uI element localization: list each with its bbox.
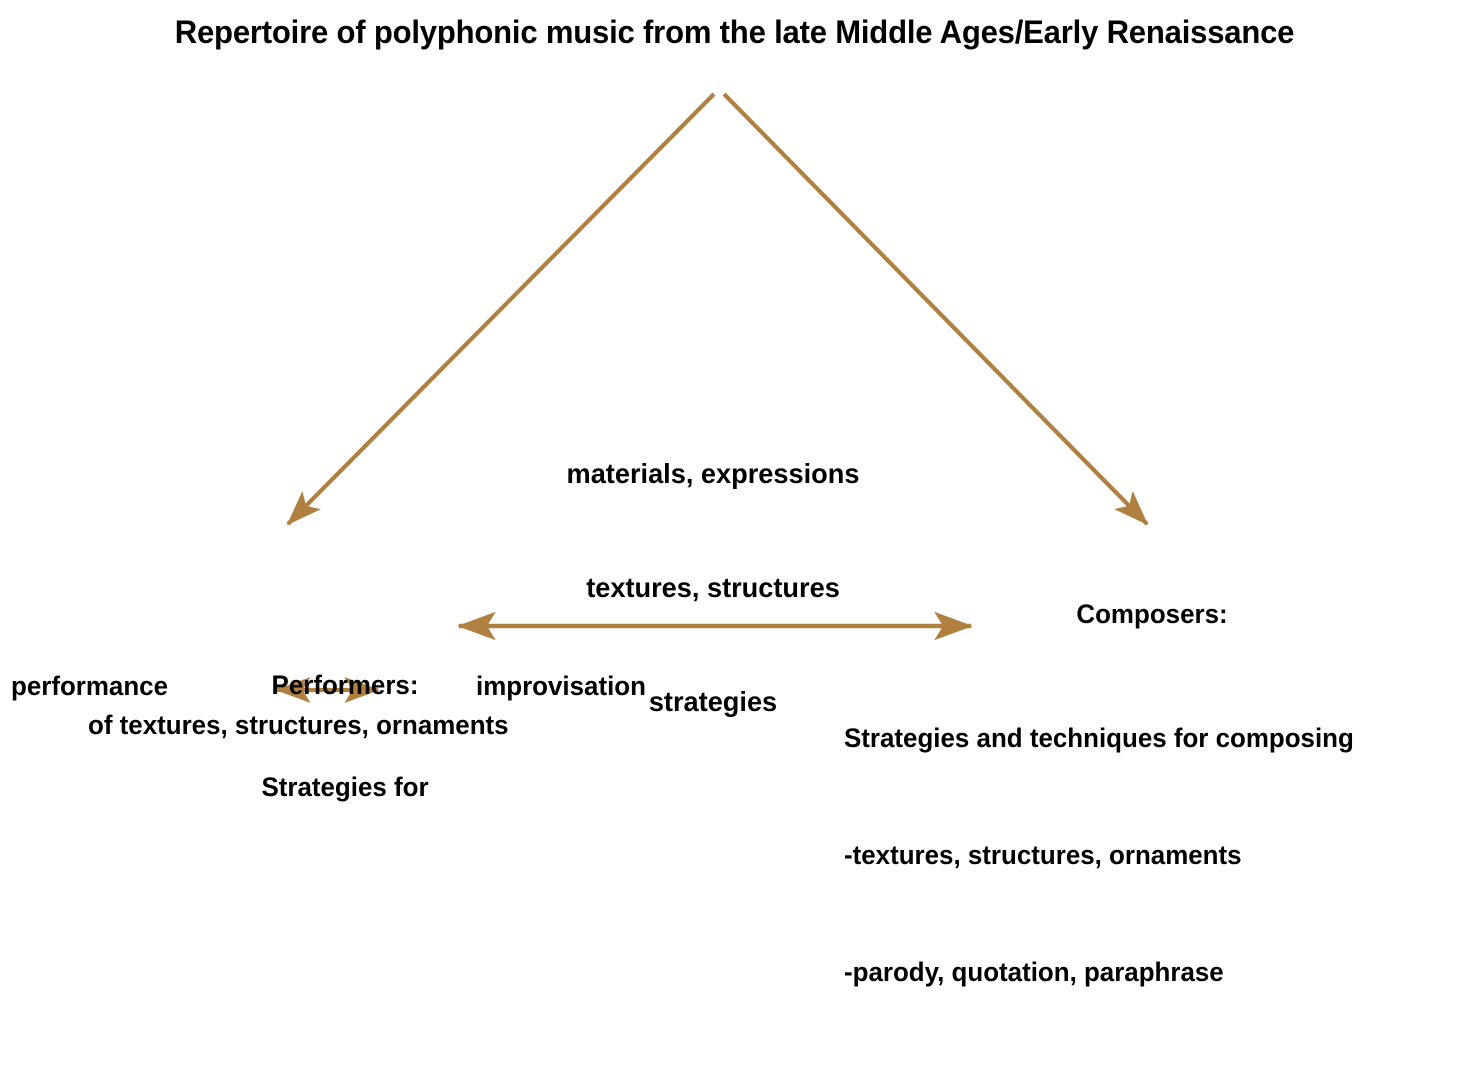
composers-line-3: -parody, quotation, paraphrase bbox=[844, 953, 1354, 992]
performers-detail-line: of textures, structures, ornaments bbox=[88, 712, 509, 739]
center-line-1: materials, expressions bbox=[422, 455, 1004, 493]
improvisation-term: improvisation bbox=[476, 673, 646, 700]
composers-line-2: -textures, structures, ornaments bbox=[844, 836, 1354, 875]
performance-term: performance bbox=[11, 673, 168, 700]
composers-line-1: Strategies and techniques for composing bbox=[844, 719, 1354, 758]
composers-detail-block: Strategies and techniques for composing … bbox=[844, 641, 1354, 1070]
performers-subtitle: Strategies for bbox=[153, 770, 537, 804]
diagram-canvas: Repertoire of polyphonic music from the … bbox=[0, 0, 1469, 792]
page-title: Repertoire of polyphonic music from the … bbox=[22, 16, 1447, 48]
composers-label: Composers: bbox=[1018, 601, 1287, 628]
